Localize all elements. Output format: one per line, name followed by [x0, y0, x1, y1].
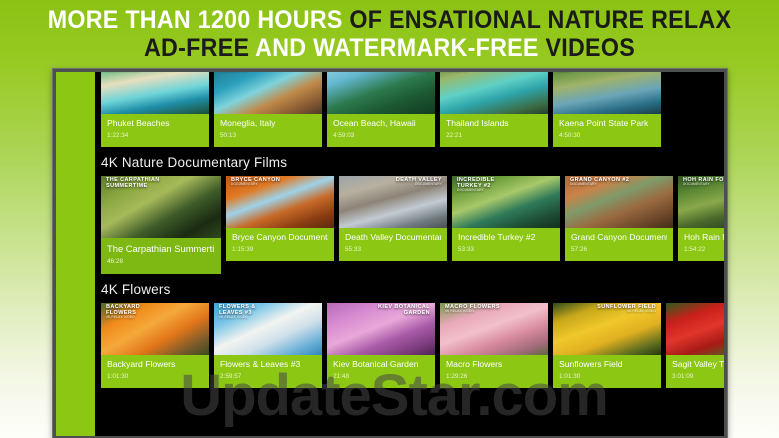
video-title: Death Valley Documentary: [345, 233, 441, 242]
video-card[interactable]: ISLANDSTHAILAND 4KThailand Islands22:21: [440, 72, 548, 147]
thumbnail-badge: FLOWERS & LEAVES #34K RELAX VIDEO: [219, 304, 281, 320]
video-duration: 3:01:09: [672, 373, 724, 380]
video-duration: 1:54:22: [684, 246, 724, 253]
video-duration: 46:28: [107, 258, 215, 265]
video-meta: Kiev Botanical Garden21:48: [327, 355, 435, 388]
card-strip[interactable]: BEACHESRELAXATION VIDEOPhuket Beaches1:2…: [95, 72, 724, 147]
video-title: Grand Canyon Documentary: [571, 233, 667, 242]
section-title: 4K Flowers: [95, 274, 724, 303]
thumbnail-badge: BEACHHAWAII 4K: [408, 72, 430, 73]
video-duration: 1:01:30: [559, 373, 655, 380]
video-meta: Moneglia, Italy50:13: [214, 114, 322, 147]
thumbnail-badge-subtitle: 4K RELAX VIDEO: [597, 310, 656, 314]
video-card[interactable]: STATE PARKHAWAIIKaena Point State Park4:…: [553, 72, 661, 147]
tv-screen: BEACHESRELAXATION VIDEOPhuket Beaches1:2…: [56, 72, 724, 436]
section-title: 4K Nature Documentary Films: [95, 147, 724, 176]
thumbnail-badge-subtitle: 4K AERIAL VIDEO: [219, 72, 249, 73]
video-meta: Macro Flowers1:29:26: [440, 355, 548, 388]
video-meta: Grand Canyon Documentary57:26: [565, 228, 673, 261]
video-card[interactable]: BRYCE CANYONDOCUMENTARYBryce Canyon Docu…: [226, 176, 334, 261]
thumbnail-badge: GRAND CANYON #2DOCUMENTARY: [570, 177, 629, 187]
video-thumbnail[interactable]: STATE PARKHAWAII: [553, 72, 661, 114]
video-thumbnail[interactable]: SUNFLOWER FIELD4K RELAX VIDEO: [553, 303, 661, 355]
thumbnail-badge-subtitle: DOCUMENTARY: [457, 189, 519, 193]
video-card[interactable]: BEACHHAWAII 4KOcean Beach, Hawaii4:59:03: [327, 72, 435, 147]
content-row: BEACHESRELAXATION VIDEOPhuket Beaches1:2…: [95, 72, 724, 147]
thumbnail-badge: THE CARPATHIAN SUMMERTIME: [106, 177, 168, 189]
video-card[interactable]: MACRO FLOWERS4K RELAX VIDEOMacro Flowers…: [440, 303, 548, 388]
headline-line2-part1: AD-FREE: [144, 34, 255, 62]
video-thumbnail[interactable]: DEATH VALLEYDOCUMENTARY: [339, 176, 447, 228]
thumbnail-badge-title: KIEV BOTANICAL GARDEN: [378, 304, 430, 316]
headline-line-2: AD-FREE AND WATERMARK-FREE VIDEOS: [27, 34, 751, 62]
thumbnail-badge-subtitle: DOCUMENTARY: [231, 183, 280, 187]
video-title: Incredible Turkey #2: [458, 233, 554, 242]
video-meta: Bryce Canyon Documentary1:15:39: [226, 228, 334, 261]
video-card[interactable]: Sagit Valley Tulip3:01:09: [666, 303, 724, 388]
video-card[interactable]: THE CARPATHIAN SUMMERTIMEThe Carpathian …: [101, 176, 221, 274]
thumbnail-badge-subtitle: HAWAII 4K: [408, 72, 430, 73]
video-card[interactable]: KIEV BOTANICAL GARDENKiev Botanical Gard…: [327, 303, 435, 388]
video-duration: 53:33: [458, 246, 554, 253]
headline: MORE THAN 1200 HOURS OF ENSATIONAL NATUR…: [0, 6, 779, 62]
thumbnail-badge-subtitle: HAWAII: [558, 72, 596, 73]
thumbnail-badge: ISLANDSTHAILAND 4K: [445, 72, 472, 73]
video-duration: 4:50:30: [559, 132, 655, 139]
thumbnail-badge: HOH RAIN FORESTDOCUMENTARY: [683, 177, 724, 187]
video-title: Phuket Beaches: [107, 119, 203, 128]
tv-frame: BEACHESRELAXATION VIDEOPhuket Beaches1:2…: [52, 68, 728, 438]
video-card[interactable]: SUNFLOWER FIELD4K RELAX VIDEOSunflowers …: [553, 303, 661, 388]
video-thumbnail[interactable]: INCREDIBLE TURKEY #2DOCUMENTARY: [452, 176, 560, 228]
video-duration: 55:33: [345, 246, 441, 253]
video-duration: 57:26: [571, 246, 667, 253]
video-title: Macro Flowers: [446, 360, 542, 369]
thumbnail-badge-subtitle: 4K RELAX VIDEO: [219, 316, 281, 320]
video-title: Ocean Beach, Hawaii: [333, 119, 429, 128]
video-duration: 50:13: [220, 132, 316, 139]
video-meta: Sunflowers Field1:01:30: [553, 355, 661, 388]
video-thumbnail[interactable]: ISLANDSTHAILAND 4K: [440, 72, 548, 114]
headline-line-1: MORE THAN 1200 HOURS OF ENSATIONAL NATUR…: [27, 6, 751, 34]
content-area: BEACHESRELAXATION VIDEOPhuket Beaches1:2…: [95, 72, 724, 436]
video-card[interactable]: GRAND CANYON #2DOCUMENTARYGrand Canyon D…: [565, 176, 673, 261]
video-card[interactable]: HOH RAIN FORESTDOCUMENTARYHoh Rain Fores…: [678, 176, 724, 261]
thumbnail-badge-subtitle: DOCUMENTARY: [683, 183, 724, 187]
card-strip[interactable]: BACKYARD FLOWERS4K RELAX VIDEOBackyard F…: [95, 303, 724, 388]
video-thumbnail[interactable]: THE CARPATHIAN SUMMERTIME: [101, 176, 221, 238]
headline-line2-part2: AND WATERMARK-FREE: [255, 34, 545, 62]
video-meta: Incredible Turkey #253:33: [452, 228, 560, 261]
thumbnail-badge: MACRO FLOWERS4K RELAX VIDEO: [445, 304, 500, 314]
video-meta: Kaena Point State Park4:50:30: [553, 114, 661, 147]
video-card[interactable]: BEACHESRELAXATION VIDEOPhuket Beaches1:2…: [101, 72, 209, 147]
video-meta: The Carpathian Summertime46:28: [101, 238, 221, 274]
video-title: Kaena Point State Park: [559, 119, 655, 128]
video-thumbnail[interactable]: MACRO FLOWERS4K RELAX VIDEO: [440, 303, 548, 355]
video-thumbnail[interactable]: BEACHHAWAII 4K: [327, 72, 435, 114]
thumbnail-badge: SUNFLOWER FIELD4K RELAX VIDEO: [597, 304, 656, 314]
video-meta: Sagit Valley Tulip3:01:09: [666, 355, 724, 388]
thumbnail-badge-subtitle: DOCUMENTARY: [570, 183, 629, 187]
video-duration: 1:01:30: [107, 373, 203, 380]
video-duration: 4:59:03: [333, 132, 429, 139]
video-title: Sunflowers Field: [559, 360, 655, 369]
promo-banner: MORE THAN 1200 HOURS OF ENSATIONAL NATUR…: [0, 0, 779, 438]
video-duration: 1:15:39: [232, 246, 328, 253]
content-row: 4K FlowersBACKYARD FLOWERS4K RELAX VIDEO…: [95, 274, 724, 388]
video-thumbnail[interactable]: FLOWERS & LEAVES #34K RELAX VIDEO: [214, 303, 322, 355]
video-title: Flowers & Leaves #3: [220, 360, 316, 369]
headline-line1-part1: MORE THAN 1200 HOURS: [48, 6, 350, 34]
video-card[interactable]: ITALY4K AERIAL VIDEOMoneglia, Italy50:13: [214, 72, 322, 147]
video-meta: Death Valley Documentary55:33: [339, 228, 447, 261]
video-title: Kiev Botanical Garden: [333, 360, 429, 369]
thumbnail-badge-subtitle: 4K RELAX VIDEO: [445, 310, 500, 314]
video-thumbnail[interactable]: HOH RAIN FORESTDOCUMENTARY: [678, 176, 724, 228]
video-thumbnail[interactable]: [666, 303, 724, 355]
video-duration: 2:59:57: [220, 373, 316, 380]
thumbnail-badge: BACKYARD FLOWERS4K RELAX VIDEO: [106, 304, 168, 320]
video-meta: Backyard Flowers1:01:30: [101, 355, 209, 388]
thumbnail-badge: INCREDIBLE TURKEY #2DOCUMENTARY: [457, 177, 519, 193]
thumbnail-badge: KIEV BOTANICAL GARDEN: [368, 304, 430, 316]
content-row: 4K Nature Documentary FilmsTHE CARPATHIA…: [95, 147, 724, 274]
thumbnail-badge-title: THE CARPATHIAN SUMMERTIME: [106, 177, 160, 189]
video-meta: Hoh Rain Fores1:54:22: [678, 228, 724, 261]
thumbnail-badge-subtitle: DOCUMENTARY: [396, 183, 442, 187]
thumbnail-badge-subtitle: THAILAND 4K: [445, 72, 472, 73]
thumbnail-badge: STATE PARKHAWAII: [558, 72, 596, 73]
headline-line2-part3: VIDEOS: [545, 34, 635, 62]
thumbnail-badge: ITALY4K AERIAL VIDEO: [219, 72, 249, 73]
video-thumbnail[interactable]: ITALY4K AERIAL VIDEO: [214, 72, 322, 114]
video-meta: Flowers & Leaves #32:59:57: [214, 355, 322, 388]
video-title: Hoh Rain Fores: [684, 233, 724, 242]
video-title: Backyard Flowers: [107, 360, 203, 369]
video-thumbnail[interactable]: KIEV BOTANICAL GARDEN: [327, 303, 435, 355]
thumbnail-badge-subtitle: 4K RELAX VIDEO: [106, 316, 168, 320]
video-thumbnail[interactable]: GRAND CANYON #2DOCUMENTARY: [565, 176, 673, 228]
video-meta: Ocean Beach, Hawaii4:59:03: [327, 114, 435, 147]
video-thumbnail[interactable]: BACKYARD FLOWERS4K RELAX VIDEO: [101, 303, 209, 355]
video-card[interactable]: DEATH VALLEYDOCUMENTARYDeath Valley Docu…: [339, 176, 447, 261]
video-meta: Thailand Islands22:21: [440, 114, 548, 147]
headline-line1-part2: OF ENSATIONAL NATURE RELAX: [349, 6, 731, 34]
video-duration: 22:21: [446, 132, 542, 139]
thumbnail-badge-subtitle: RELAXATION VIDEO: [106, 72, 140, 73]
video-card[interactable]: FLOWERS & LEAVES #34K RELAX VIDEOFlowers…: [214, 303, 322, 388]
video-meta: Phuket Beaches1:22:34: [101, 114, 209, 147]
video-title: The Carpathian Summertime: [107, 244, 215, 254]
thumbnail-badge: DEATH VALLEYDOCUMENTARY: [396, 177, 442, 187]
video-title: Thailand Islands: [446, 119, 542, 128]
video-duration: 1:22:34: [107, 132, 203, 139]
video-thumbnail[interactable]: BEACHESRELAXATION VIDEO: [101, 72, 209, 114]
video-duration: 1:29:26: [446, 373, 542, 380]
card-strip[interactable]: THE CARPATHIAN SUMMERTIMEThe Carpathian …: [95, 176, 724, 274]
video-card[interactable]: BACKYARD FLOWERS4K RELAX VIDEOBackyard F…: [101, 303, 209, 388]
thumbnail-badge: BRYCE CANYONDOCUMENTARY: [231, 177, 280, 187]
video-thumbnail[interactable]: BRYCE CANYONDOCUMENTARY: [226, 176, 334, 228]
video-title: Bryce Canyon Documentary: [232, 233, 328, 242]
video-title: Sagit Valley Tulip: [672, 360, 724, 369]
video-duration: 21:48: [333, 373, 429, 380]
video-title: Moneglia, Italy: [220, 119, 316, 128]
sidebar-rail[interactable]: [56, 72, 95, 436]
thumbnail-badge: BEACHESRELAXATION VIDEO: [106, 72, 140, 73]
video-card[interactable]: INCREDIBLE TURKEY #2DOCUMENTARYIncredibl…: [452, 176, 560, 261]
